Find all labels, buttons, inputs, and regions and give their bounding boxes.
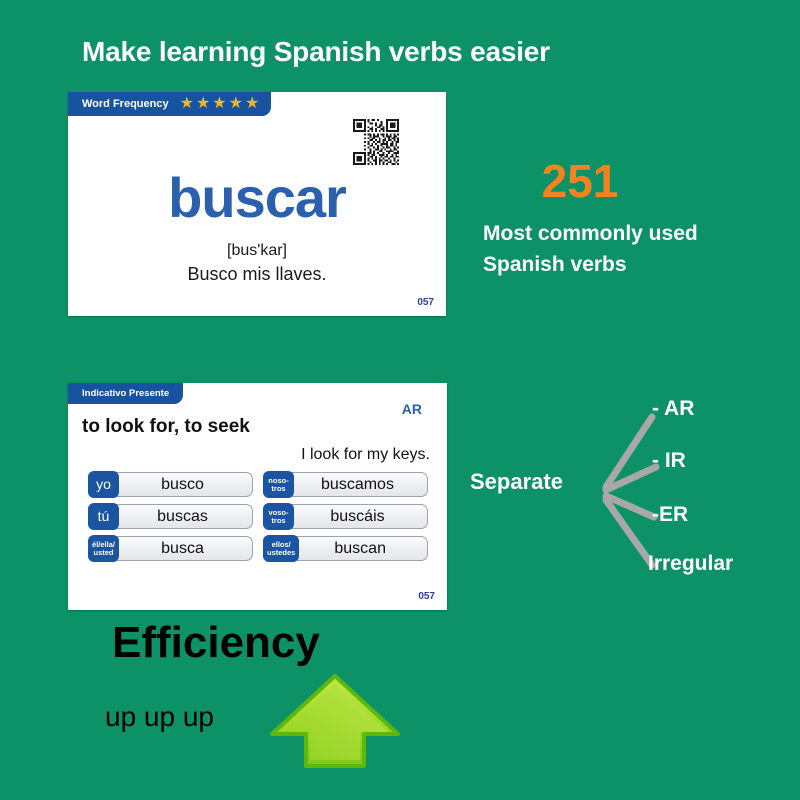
efficiency-title: Efficiency bbox=[112, 618, 320, 668]
separate-label: Separate bbox=[470, 469, 563, 495]
pronoun-label: yo bbox=[88, 471, 119, 498]
fan-branch-ir: - IR bbox=[652, 449, 686, 473]
word-frequency-label: Word Frequency bbox=[82, 98, 169, 110]
mood-tense-banner: Indicativo Presente bbox=[68, 383, 183, 404]
qr-code-icon[interactable] bbox=[352, 119, 400, 165]
verb-count-number: 251 bbox=[542, 158, 619, 204]
efficiency-subtitle: up up up bbox=[105, 701, 214, 733]
word-flashcard[interactable]: Word Frequency ★ ★ ★ ★ ★ bbox=[68, 92, 446, 316]
arrow-up-icon bbox=[268, 672, 402, 772]
star-icon: ★ bbox=[245, 96, 259, 112]
star-icon: ★ bbox=[229, 96, 243, 112]
conjugation-row[interactable]: voso- tros buscáis bbox=[263, 504, 428, 529]
verb-form: buscamos bbox=[294, 473, 427, 496]
pronoun-label: voso- tros bbox=[263, 503, 294, 530]
star-icon: ★ bbox=[196, 96, 210, 112]
card-number: 057 bbox=[418, 591, 435, 602]
verb-form: busca bbox=[119, 537, 252, 560]
verb-form: buscas bbox=[119, 505, 252, 528]
example-sentence-english: I look for my keys. bbox=[301, 446, 430, 464]
mood-tense-label: Indicativo Presente bbox=[82, 388, 169, 399]
pronoun-label: noso- tros bbox=[263, 471, 294, 498]
poster-canvas: Make learning Spanish verbs easier Word … bbox=[0, 0, 800, 800]
conjugation-row[interactable]: tú buscas bbox=[88, 504, 253, 529]
verb-count-line-2: Spanish verbs bbox=[483, 253, 627, 277]
verb-form: buscan bbox=[299, 537, 427, 560]
pronoun-label: él/ella/ usted bbox=[88, 535, 119, 562]
translation-text: to look for, to seek bbox=[82, 416, 250, 438]
phonetic-transcription: [bus'kar] bbox=[68, 242, 446, 260]
pronoun-label: tú bbox=[88, 503, 119, 530]
conjugation-row[interactable]: yo busco bbox=[88, 472, 253, 497]
conjugation-flashcard[interactable]: Indicativo Presente AR to look for, to s… bbox=[68, 383, 447, 610]
star-icon: ★ bbox=[180, 96, 194, 112]
verb-form: busco bbox=[119, 473, 252, 496]
conjugation-row[interactable]: él/ella/ usted busca bbox=[88, 536, 253, 561]
headword: buscar bbox=[68, 170, 446, 226]
fan-branch-er: -ER bbox=[652, 503, 688, 527]
fan-branch-ar: - AR bbox=[652, 397, 694, 421]
fan-branch-irregular: Irregular bbox=[648, 552, 733, 576]
word-frequency-banner: Word Frequency ★ ★ ★ ★ ★ bbox=[68, 92, 271, 116]
star-rating: ★ ★ ★ ★ ★ bbox=[180, 96, 260, 112]
page-title: Make learning Spanish verbs easier bbox=[82, 36, 550, 68]
conjugation-row[interactable]: noso- tros buscamos bbox=[263, 472, 428, 497]
conjugation-table: yo busco noso- tros buscamos tú buscas bbox=[88, 472, 428, 561]
example-sentence-spanish: Busco mis llaves. bbox=[68, 264, 446, 285]
star-icon: ★ bbox=[212, 96, 226, 112]
pronoun-label: ellos/ ustedes bbox=[263, 535, 299, 562]
conjugation-row[interactable]: ellos/ ustedes buscan bbox=[263, 536, 428, 561]
card-number: 057 bbox=[417, 297, 434, 308]
verb-form: buscáis bbox=[294, 505, 427, 528]
verb-count-line-1: Most commonly used bbox=[483, 222, 698, 246]
verb-group-tag: AR bbox=[402, 401, 422, 417]
